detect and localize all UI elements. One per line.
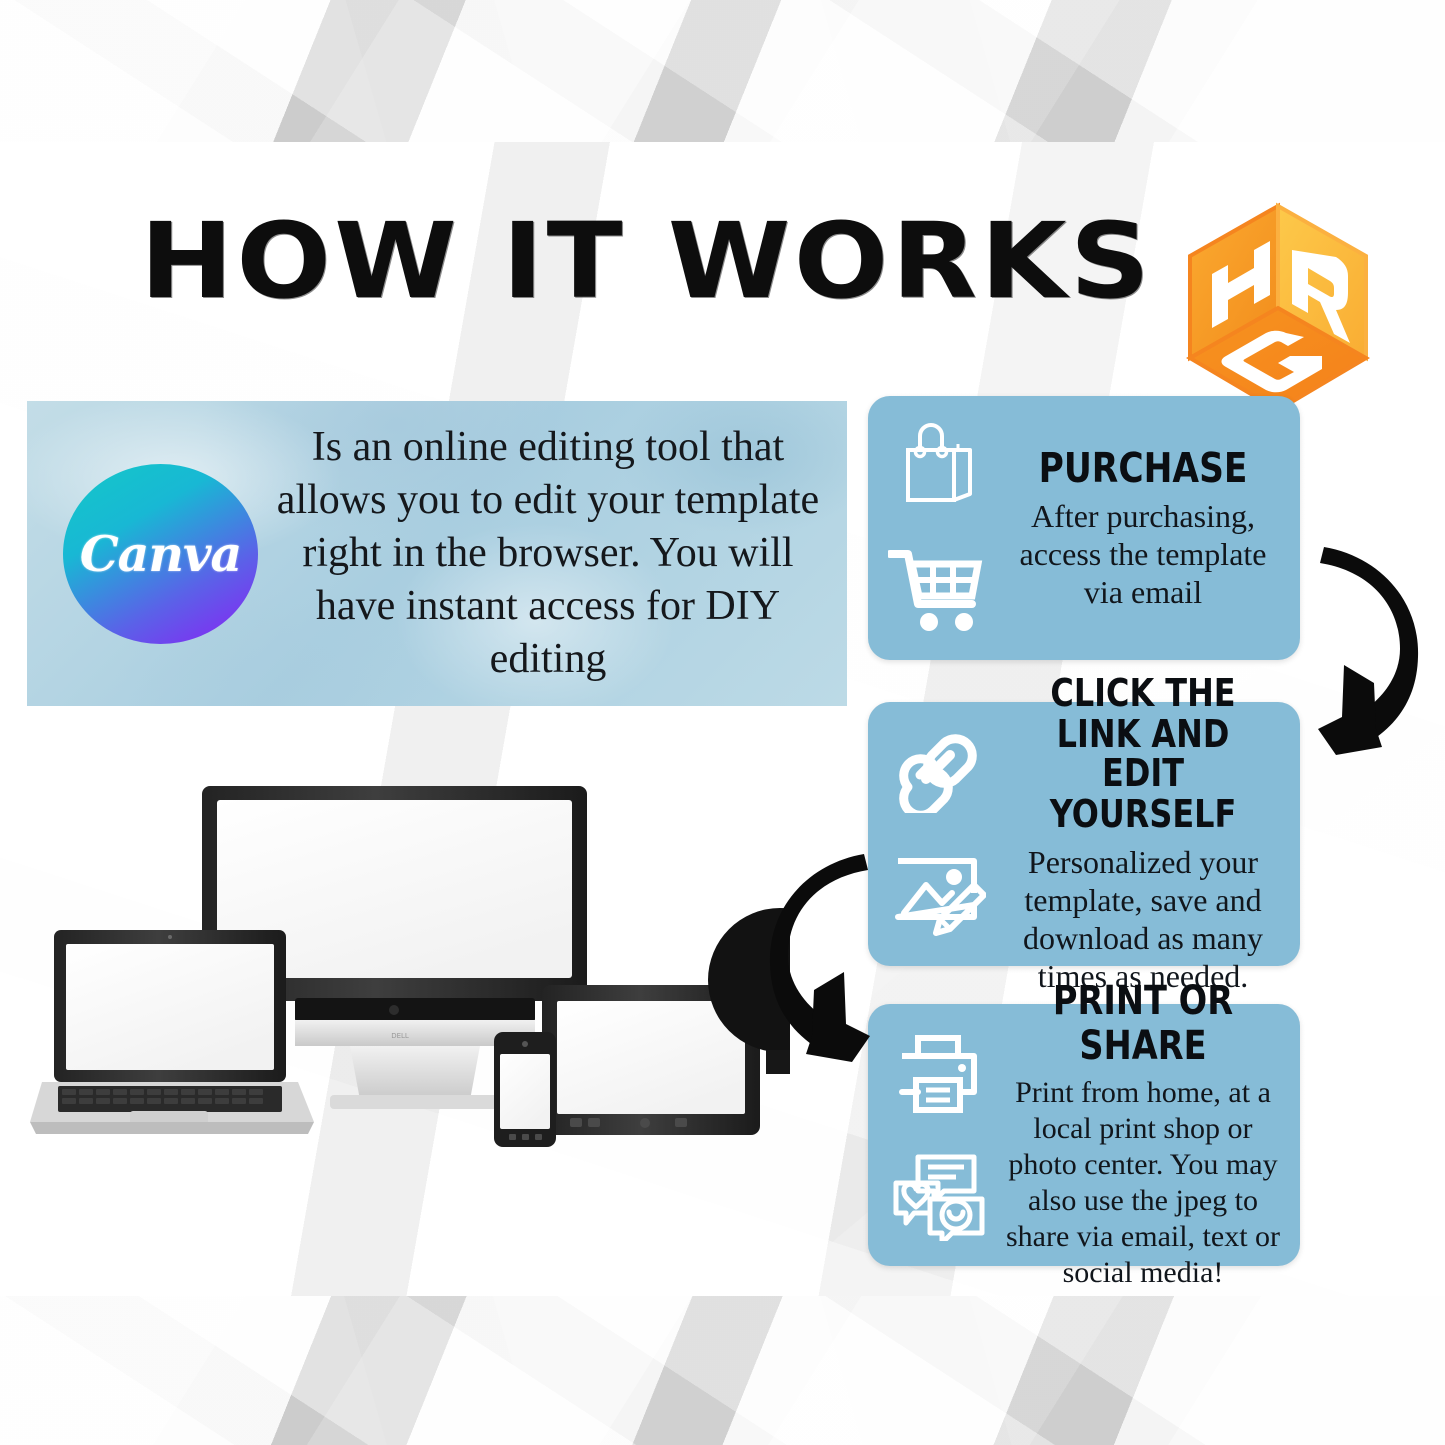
curved-arrow-down-right-icon xyxy=(752,842,892,1064)
print-description: Print from home, at a local print shop o… xyxy=(996,1075,1290,1291)
step-card-purchase[interactable]: PURCHASE After purchasing, access the te… xyxy=(868,396,1300,660)
edit-icons xyxy=(882,710,994,958)
edit-description: Personalized your template, save and dow… xyxy=(996,843,1290,995)
step-card-print[interactable]: PRINT OR SHARE Print from home, at a loc… xyxy=(868,1004,1300,1266)
purchase-heading: PURCHASE xyxy=(1020,446,1267,491)
printer-icon xyxy=(892,1030,984,1116)
image-edit-icon xyxy=(890,851,986,939)
canva-description: Is an online editing tool that allows yo… xyxy=(265,421,831,686)
social-share-icon xyxy=(890,1151,986,1241)
edit-heading-line2: EDIT YOURSELF xyxy=(1020,753,1267,835)
print-icons xyxy=(882,1012,994,1258)
shopping-cart-icon xyxy=(888,544,988,634)
shopping-bag-icon xyxy=(892,422,984,508)
background-texture-top xyxy=(0,0,1445,142)
infographic-canvas: HOW IT WORKS xyxy=(0,0,1445,1445)
purchase-description: After purchasing, access the template vi… xyxy=(996,497,1290,611)
curved-arrow-down-left-icon xyxy=(1296,533,1436,758)
svg-text:DELL: DELL xyxy=(391,1032,409,1040)
purchase-body: PURCHASE After purchasing, access the te… xyxy=(996,406,1290,650)
canva-wordmark: Canva xyxy=(80,525,242,583)
print-body: PRINT OR SHARE Print from home, at a loc… xyxy=(996,1014,1290,1256)
print-heading: PRINT OR SHARE xyxy=(1020,979,1267,1069)
link-icon xyxy=(892,729,984,813)
step-card-edit[interactable]: CLICK THE LINK AND EDIT YOURSELF Persona… xyxy=(868,702,1300,966)
devices-mockup-image: DELL xyxy=(30,770,790,1190)
canva-logo-icon: Canva xyxy=(63,464,258,644)
purchase-icons xyxy=(882,404,994,652)
canva-info-banner: Canva Is an online editing tool that all… xyxy=(27,401,847,706)
page-title: HOW IT WORKS xyxy=(140,205,953,320)
background-texture-bottom xyxy=(0,1296,1445,1445)
edit-body: CLICK THE LINK AND EDIT YOURSELF Persona… xyxy=(996,712,1290,956)
edit-heading-line1: CLICK THE LINK AND xyxy=(1020,673,1267,755)
